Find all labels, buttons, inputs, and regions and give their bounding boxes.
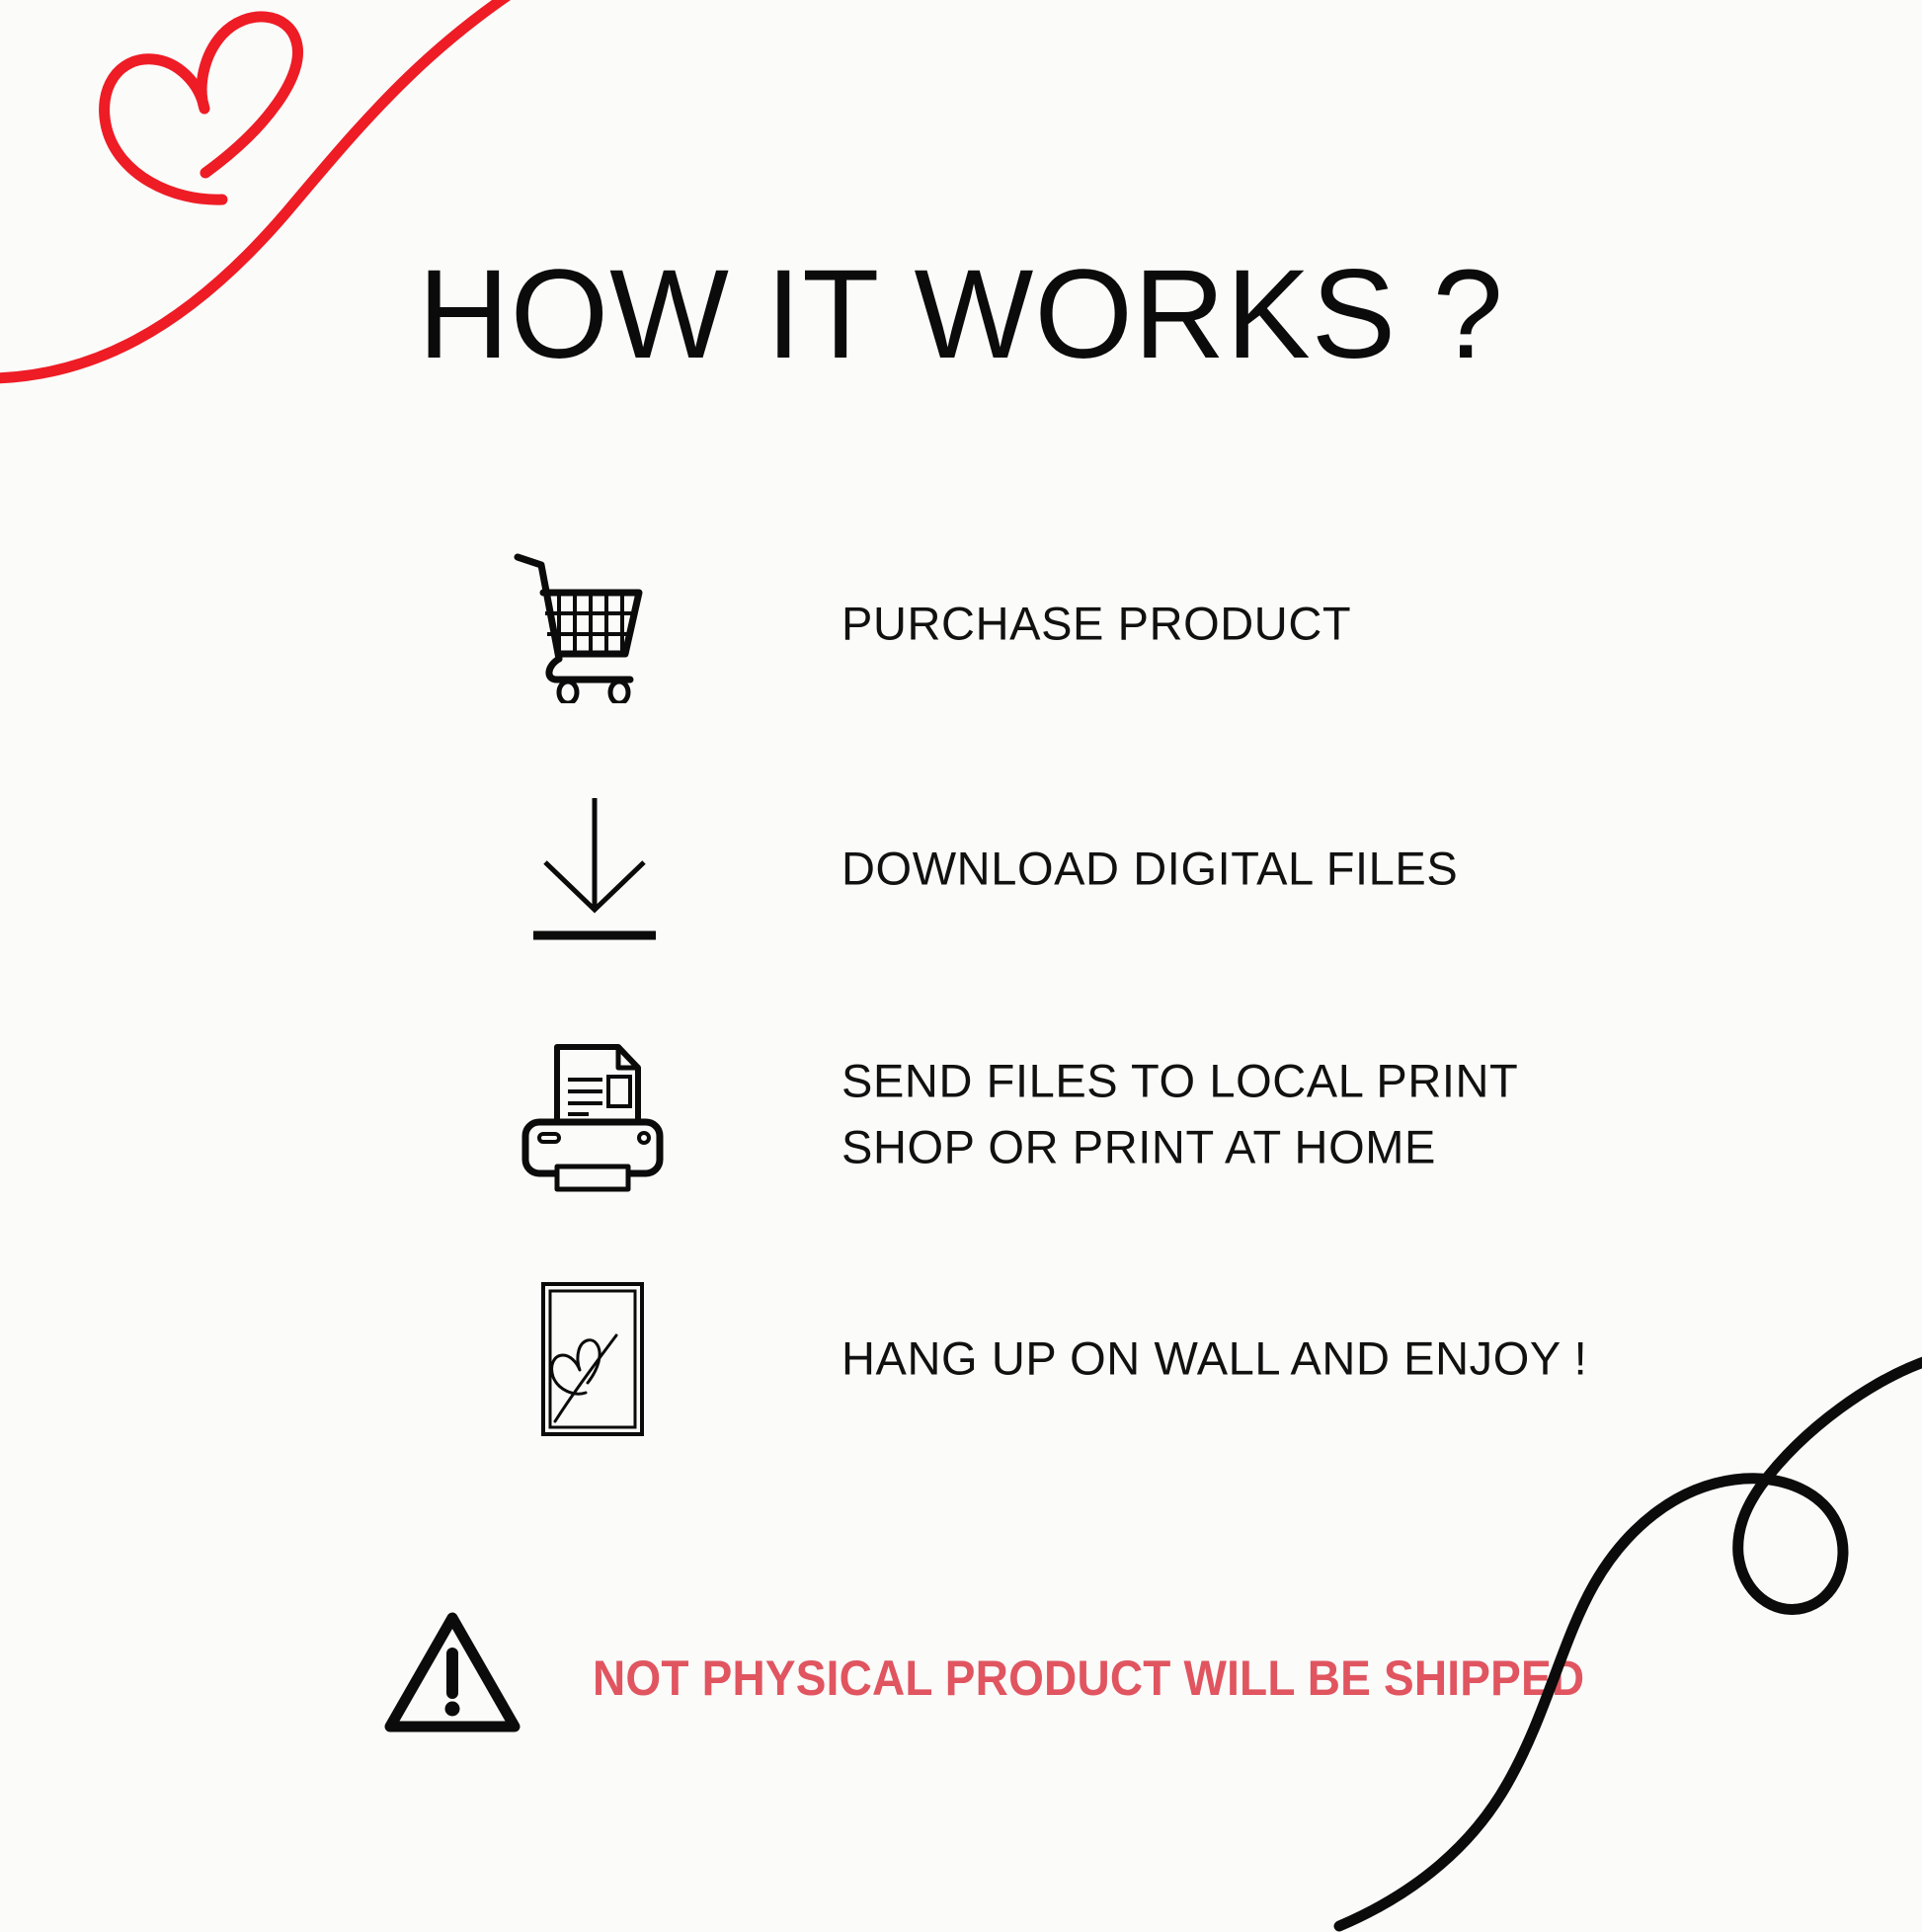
warning-triangle-icon [383, 1608, 521, 1736]
step-purchase-product: PURCHASE PRODUCT [0, 502, 1922, 747]
step-label: SEND FILES TO LOCAL PRINT SHOP OR PRINT … [841, 1048, 1518, 1179]
warning-banner: NOT PHYSICAL PRODUCT WILL BE SHIPPED [0, 1600, 1922, 1768]
step-label: DOWNLOAD DIGITAL FILES [841, 837, 1458, 903]
poster-canvas: HOW IT WORKS ? [0, 0, 1922, 1922]
warning-text: NOT PHYSICAL PRODUCT WILL BE SHIPPED [593, 1650, 1584, 1707]
steps-list: PURCHASE PRODUCT DOWNLOAD DIGITAL FILES [0, 502, 1922, 1482]
step-label: HANG UP ON WALL AND ENJOY ! [841, 1327, 1587, 1393]
step-label: PURCHASE PRODUCT [841, 592, 1351, 658]
printer-icon [494, 1015, 691, 1213]
page-title: HOW IT WORKS ? [0, 252, 1922, 378]
shopping-cart-icon [490, 525, 687, 723]
step-download-files: DOWNLOAD DIGITAL FILES [0, 747, 1922, 992]
framed-art-icon [494, 1260, 691, 1458]
step-print-files: SEND FILES TO LOCAL PRINT SHOP OR PRINT … [0, 992, 1922, 1237]
download-arrow-icon [496, 770, 693, 968]
red-heart-swoosh-decoration [0, 0, 662, 454]
step-hang-on-wall: HANG UP ON WALL AND ENJOY ! [0, 1237, 1922, 1482]
